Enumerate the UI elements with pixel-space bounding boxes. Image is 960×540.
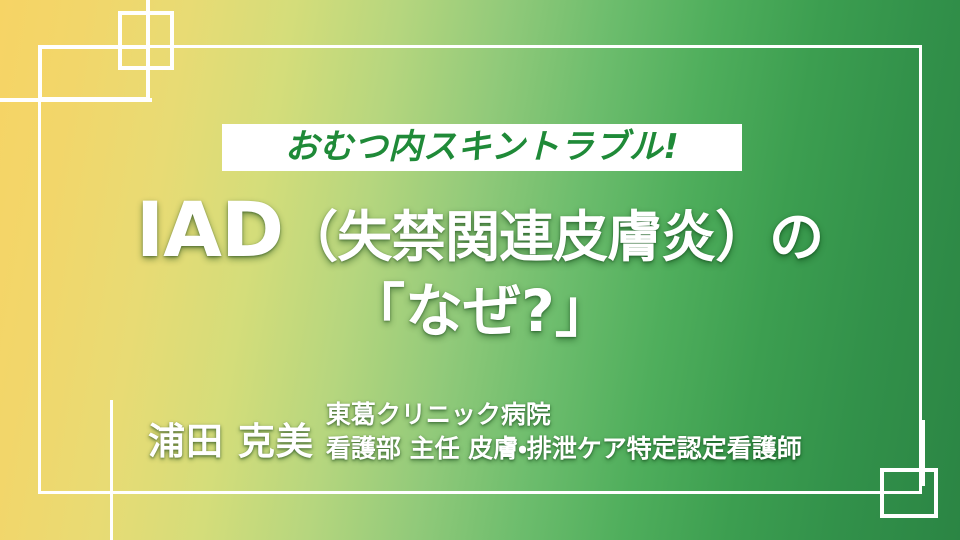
title-slide: おむつ内スキントラブル! IAD （失禁関連皮膚炎） の 「なぜ?」 浦田 克美… <box>0 0 960 540</box>
title-line-secondary: 「なぜ?」 <box>0 281 960 342</box>
decorative-horizontal-line-bottom-left <box>110 491 150 494</box>
title-particle: の <box>769 208 824 266</box>
decorative-square-top-left <box>118 11 174 70</box>
page-title: IAD （失禁関連皮膚炎） の 「なぜ?」 <box>0 190 960 342</box>
decorative-vertical-line-bottom-right <box>921 420 925 486</box>
decorative-vertical-line-bottom-left <box>110 400 113 540</box>
presenter-name: 浦田 克美 <box>148 423 314 465</box>
decorative-horizontal-line-left <box>0 98 152 102</box>
title-acronym: IAD <box>136 190 283 271</box>
presenter-block: 浦田 克美 東葛クリニック病院 看護部 主任 皮膚・排泄ケア特定認定看護師 <box>148 398 848 465</box>
subtitle-text: おむつ内スキントラブル! <box>285 130 680 164</box>
title-parenthetical: （失禁関連皮膚炎） <box>283 208 769 266</box>
decorative-rectangle-top-left <box>38 45 150 101</box>
subtitle-banner: おむつ内スキントラブル! <box>222 124 742 171</box>
decorative-vertical-line-top-left <box>146 0 150 102</box>
presenter-affiliation-line-2: 看護部 主任 皮膚・排泄ケア特定認定看護師 <box>326 432 802 466</box>
title-line-primary: IAD （失禁関連皮膚炎） の <box>0 190 960 271</box>
presenter-affiliation-line-1: 東葛クリニック病院 <box>326 398 802 432</box>
decorative-square-bottom-right <box>880 468 938 518</box>
presenter-affiliation: 東葛クリニック病院 看護部 主任 皮膚・排泄ケア特定認定看護師 <box>326 398 802 465</box>
